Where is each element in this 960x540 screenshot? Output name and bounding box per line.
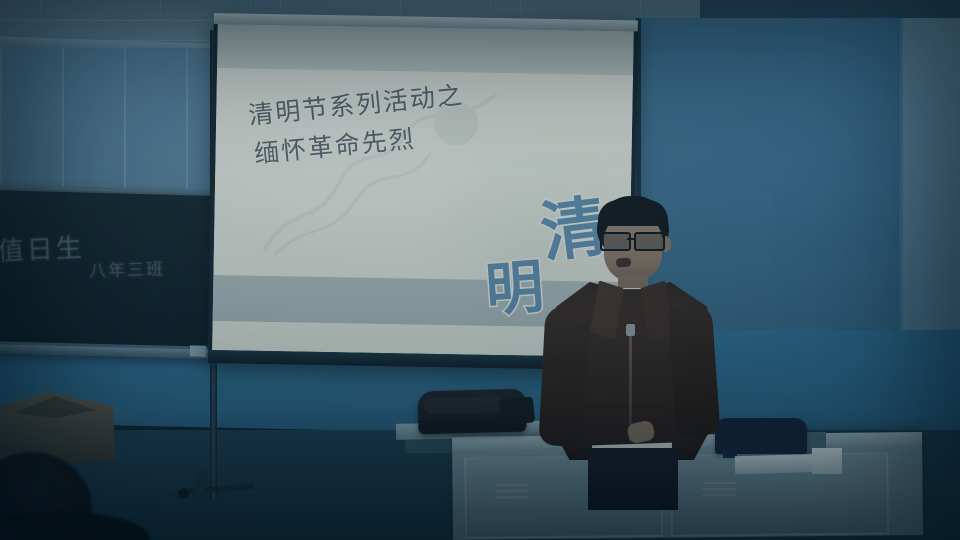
glasses-lens-right bbox=[634, 232, 665, 251]
glasses-lens-left bbox=[600, 232, 631, 251]
zipper-pull bbox=[626, 324, 635, 336]
chalkboard-surface: 值日生 八年三班 bbox=[0, 190, 212, 347]
trousers bbox=[588, 448, 678, 510]
hair-fringe bbox=[598, 200, 668, 226]
mouth bbox=[616, 257, 632, 267]
glasses-icon bbox=[600, 232, 666, 248]
presenter bbox=[540, 196, 720, 456]
calligraphy-character-ming: 明 bbox=[482, 239, 546, 327]
chalk-writing-primary: 值日生 bbox=[0, 228, 85, 269]
arm-right bbox=[538, 305, 589, 447]
classroom-photo: 值日生 八年三班 清明节系列活动之 bbox=[0, 0, 960, 540]
chalkboard: 值日生 八年三班 bbox=[0, 185, 220, 359]
arm-left bbox=[667, 303, 720, 438]
screen-stand-wheel bbox=[178, 488, 189, 499]
bag-strap bbox=[499, 396, 536, 425]
chalk-tray-clip bbox=[190, 345, 206, 356]
glasses-bridge bbox=[627, 238, 634, 240]
paper-stack-secondary bbox=[812, 448, 842, 474]
bag-flap bbox=[424, 396, 506, 414]
chalk-writing-secondary: 八年三班 bbox=[89, 255, 166, 282]
